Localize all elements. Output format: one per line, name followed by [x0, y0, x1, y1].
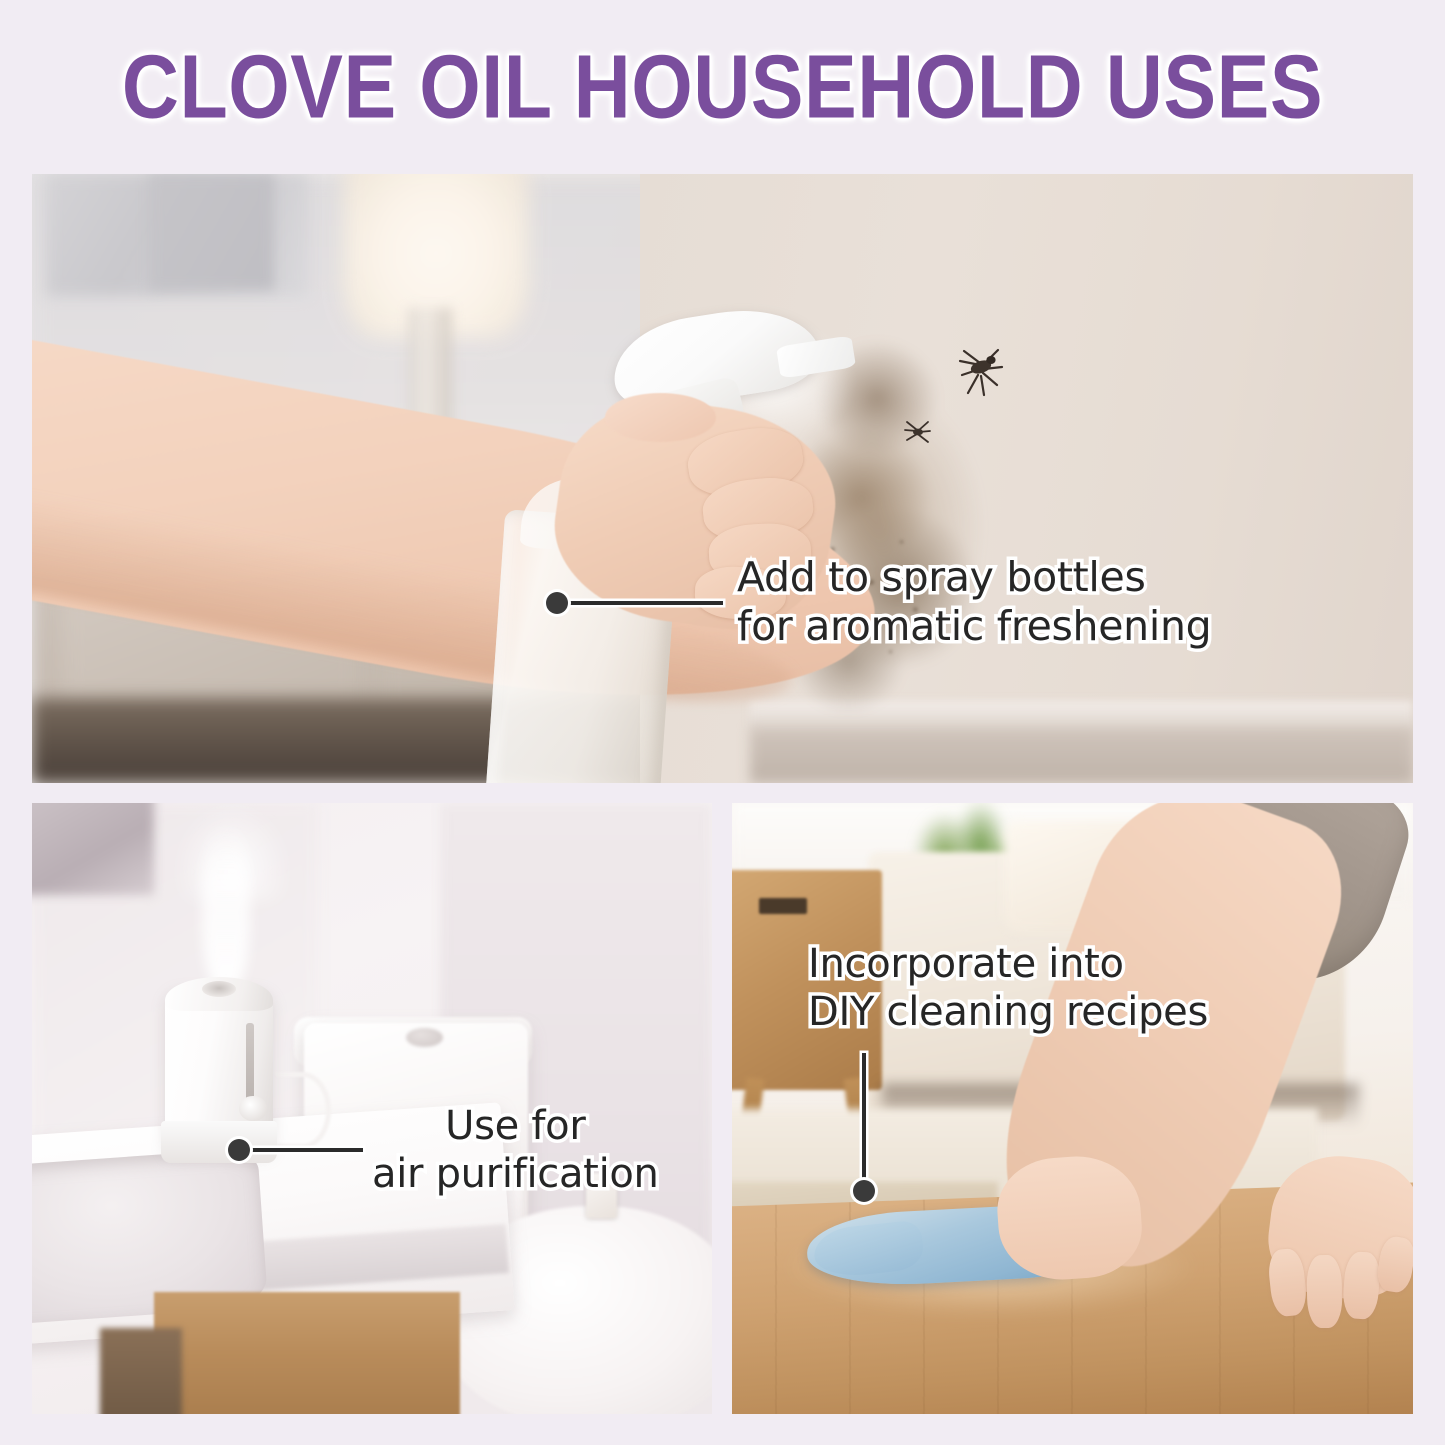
callout-humidifier: Use for air purification	[372, 1102, 659, 1198]
cabinet-handle	[759, 898, 807, 914]
humidifier-base	[161, 1121, 277, 1164]
mist-stream	[202, 821, 250, 992]
humidifier-knob	[239, 1096, 266, 1120]
leader-line-humidifier	[245, 1148, 363, 1152]
callout-spray-bottle: Add to spray bottles for aromatic freshe…	[737, 553, 1211, 651]
callout-diy-cleaning: Incorporate into DIY cleaning recipes	[808, 940, 1208, 1036]
support-finger-2	[1306, 1255, 1343, 1329]
mug-handle	[273, 1072, 331, 1149]
leader-dot-diy	[853, 1180, 875, 1202]
thumb	[605, 393, 715, 442]
mirror	[32, 803, 154, 895]
spray-bottle-panel	[32, 174, 1413, 783]
leader-line-spray	[563, 601, 723, 605]
vanity-shadow	[100, 1328, 182, 1414]
baseboard-shadow	[750, 728, 1413, 783]
diy-cleaning-panel	[732, 803, 1413, 1414]
leader-dot-humidifier	[228, 1139, 250, 1161]
leader-dot-spray	[546, 592, 568, 614]
insect-small-icon	[902, 418, 932, 446]
insect-large-icon	[950, 345, 1008, 397]
page-title-bar: CLOVE OIL HOUSEHOLD USES	[0, 0, 1445, 174]
wood-vanity-cabinet	[154, 1292, 460, 1414]
page-title: CLOVE OIL HOUSEHOLD USES	[122, 36, 1323, 139]
leader-line-diy	[862, 1053, 866, 1185]
wall-frame-left-inner	[149, 174, 273, 290]
